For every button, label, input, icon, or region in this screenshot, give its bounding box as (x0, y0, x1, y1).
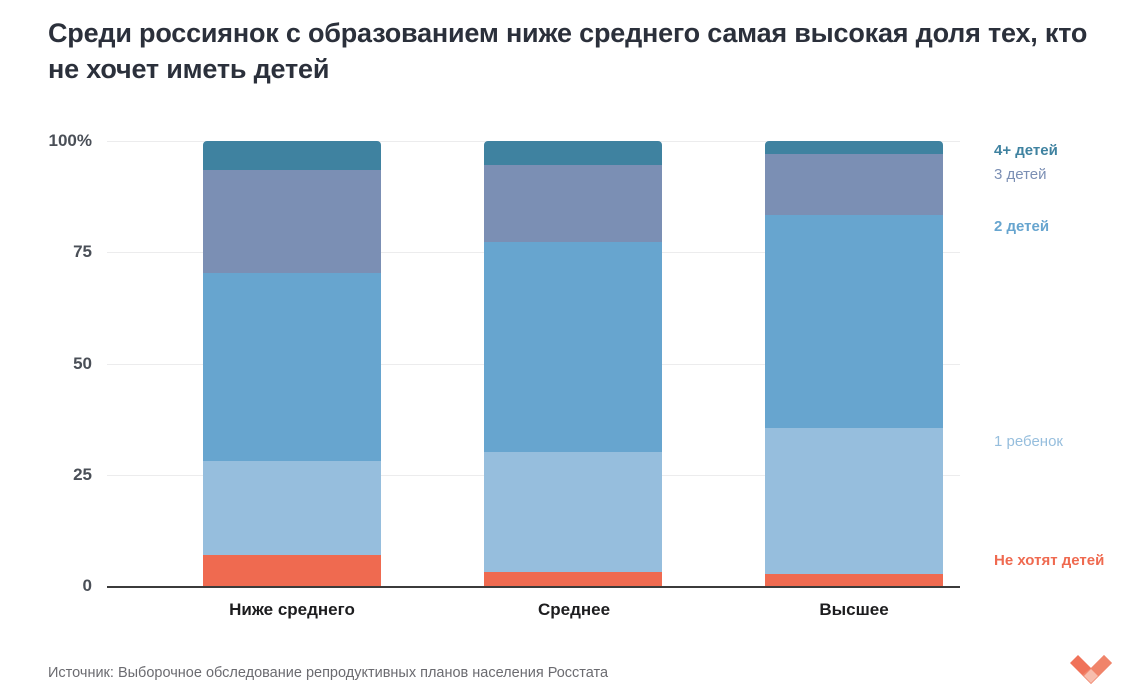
bar-segment[interactable] (203, 555, 381, 586)
x-axis-label: Ниже среднего (162, 600, 422, 620)
bar-segment[interactable] (765, 574, 943, 586)
source-note: Источник: Выборочное обследование репрод… (48, 665, 608, 681)
x-axis-line (107, 586, 960, 588)
y-axis-tick-label: 50 (32, 354, 92, 374)
legend-label: 2 детей (994, 218, 1049, 235)
bar-segment[interactable] (484, 242, 662, 452)
y-axis-tick-label: 25 (32, 465, 92, 485)
bar-segment[interactable] (765, 154, 943, 215)
bar-segment[interactable] (765, 428, 943, 574)
bar-segment[interactable] (203, 141, 381, 170)
legend-label: 3 детей (994, 166, 1047, 183)
legend-label: 1 ребенок (994, 433, 1063, 450)
y-axis-tick-label: 0 (32, 576, 92, 596)
bar-segment[interactable] (765, 141, 943, 154)
x-axis-label: Среднее (444, 600, 704, 620)
bar-segment[interactable] (203, 273, 381, 461)
bar-segment[interactable] (765, 215, 943, 428)
x-axis-label: Высшее (724, 600, 984, 620)
bar-segment[interactable] (203, 461, 381, 555)
bar-segment[interactable] (203, 170, 381, 273)
y-axis-tick-label: 75 (32, 242, 92, 262)
stacked-bar-chart: 0255075100% Ниже среднегоСреднееВысшее 4… (0, 0, 1133, 700)
bar-segment[interactable] (484, 452, 662, 572)
bar-segment[interactable] (484, 165, 662, 242)
legend-label: Не хотят детей (994, 552, 1104, 569)
bar-segment[interactable] (484, 141, 662, 165)
legend-label: 4+ детей (994, 142, 1058, 159)
y-axis-tick-label: 100% (32, 131, 92, 151)
bar-segment[interactable] (484, 572, 662, 586)
heart-logo (1068, 655, 1114, 689)
plot-area (107, 141, 960, 586)
